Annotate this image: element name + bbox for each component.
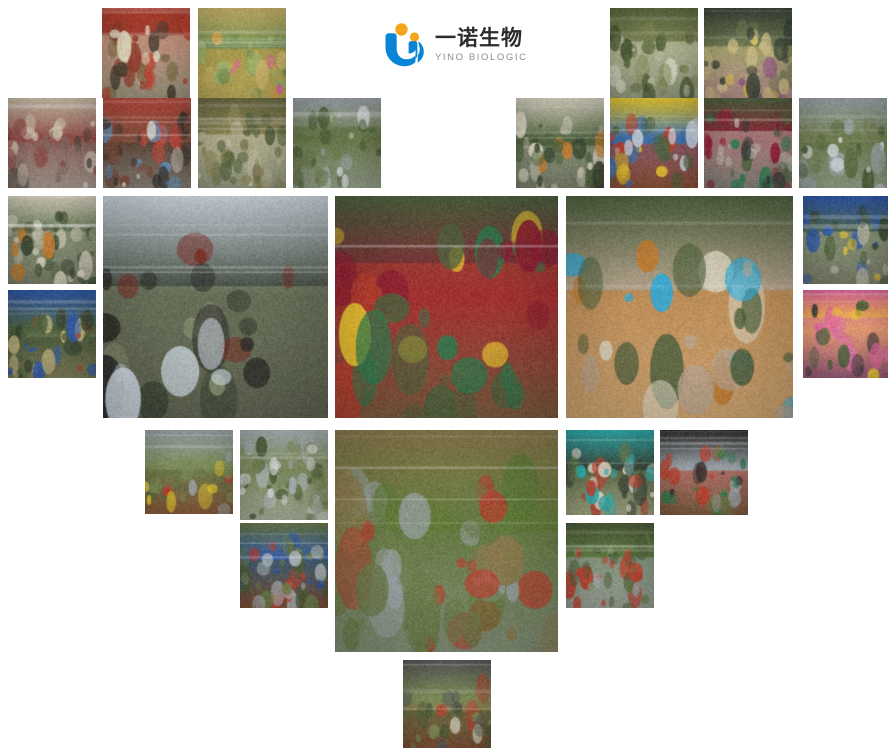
- yino-logo-mark-icon: [383, 22, 427, 68]
- gallery-photo[interactable]: Seated rows at tables in a classroom: [516, 98, 604, 188]
- photo-image: [8, 290, 96, 378]
- gallery-photo[interactable]: Team group photo with trophy in front of…: [335, 430, 558, 652]
- collage-canvas: 一诺生物 YINO BIOLOGIC Assembly under red ba…: [0, 0, 896, 755]
- photo-image: [799, 98, 887, 188]
- photo-image: [335, 196, 558, 418]
- gallery-photo[interactable]: Trainees saluting instructor outdoors: [610, 8, 698, 98]
- photo-image: [198, 98, 286, 188]
- photo-image: [8, 196, 96, 284]
- gallery-photo[interactable]: Trainees around cards laid out on the gr…: [403, 660, 491, 748]
- gallery-photo[interactable]: Large dining hall seminar with projectio…: [566, 196, 793, 418]
- photo-image: [566, 430, 654, 515]
- gallery-photo[interactable]: Indoor audience raising hands in a hall: [8, 98, 96, 188]
- gallery-photo[interactable]: Trainees saluting on outdoor pavement: [240, 430, 328, 520]
- photo-image: [8, 98, 96, 188]
- photo-image: [240, 523, 328, 608]
- gallery-photo[interactable]: Assembly under red banner with Chinese c…: [102, 8, 190, 98]
- gallery-photo[interactable]: Instructor beside colorful pink and yell…: [803, 290, 888, 378]
- gallery-photo[interactable]: Team resting on bench beside activity ma…: [145, 430, 233, 514]
- logo-name-cn: 一诺生物: [435, 28, 528, 49]
- gallery-photo[interactable]: Indoor curling style team activity with …: [610, 98, 698, 188]
- company-logo: 一诺生物 YINO BIOLOGIC: [383, 22, 528, 68]
- gallery-photo[interactable]: Two trainees saluting in close-up: [566, 523, 654, 608]
- photo-image: [403, 660, 491, 748]
- gallery-photo[interactable]: Trainees seated on blue stools around a …: [8, 290, 96, 378]
- photo-image: [103, 196, 328, 418]
- gallery-photo[interactable]: Large outdoor group around colorful floo…: [704, 8, 792, 98]
- gallery-photo[interactable]: Instructor addressing formation with spe…: [660, 430, 748, 515]
- gallery-photo[interactable]: Trainees saluting outdoors in camouflage: [198, 98, 286, 188]
- gallery-photo[interactable]: Blue team flag carried in front of forma…: [240, 523, 328, 608]
- photo-image: [803, 196, 888, 284]
- logo-wordmark: 一诺生物 YINO BIOLOGIC: [435, 28, 528, 63]
- photo-image: [198, 8, 286, 98]
- gallery-photo[interactable]: Outdoor courtyard team game on colorful …: [198, 8, 286, 98]
- gallery-photo[interactable]: Classroom rows of trainees at desks: [8, 196, 96, 284]
- photo-image: [145, 430, 233, 514]
- photo-image: [803, 290, 888, 378]
- gallery-photo[interactable]: Indoor flag ceremony with colored team f…: [335, 196, 558, 418]
- photo-image: [102, 8, 190, 98]
- photo-image: [610, 98, 698, 188]
- gallery-photo[interactable]: Marching squad with raised arms on road: [799, 98, 887, 188]
- gallery-photo[interactable]: Stage performers presenting to seated au…: [103, 98, 191, 188]
- photo-image: [103, 98, 191, 188]
- gallery-photo[interactable]: Seated trainees on stools viewed from be…: [803, 196, 888, 284]
- photo-image: [704, 8, 792, 98]
- photo-image: [335, 430, 558, 652]
- photo-image: [566, 523, 654, 608]
- photo-image: [516, 98, 604, 188]
- logo-name-en: YINO BIOLOGIC: [435, 53, 528, 63]
- photo-image: [610, 8, 698, 98]
- photo-image: [704, 98, 792, 188]
- photo-image: [660, 430, 748, 515]
- photo-image: [240, 430, 328, 520]
- photo-image: [566, 196, 793, 418]
- gallery-photo[interactable]: Large seated group photo with red banner: [566, 430, 654, 515]
- photo-image: [293, 98, 381, 188]
- gallery-photo[interactable]: Lecture hall with speaker and projected …: [103, 196, 328, 418]
- gallery-photo[interactable]: Squad marching on paved road past a whit…: [293, 98, 381, 188]
- gallery-photo[interactable]: Formation lined up before a red stage cu…: [704, 98, 792, 188]
